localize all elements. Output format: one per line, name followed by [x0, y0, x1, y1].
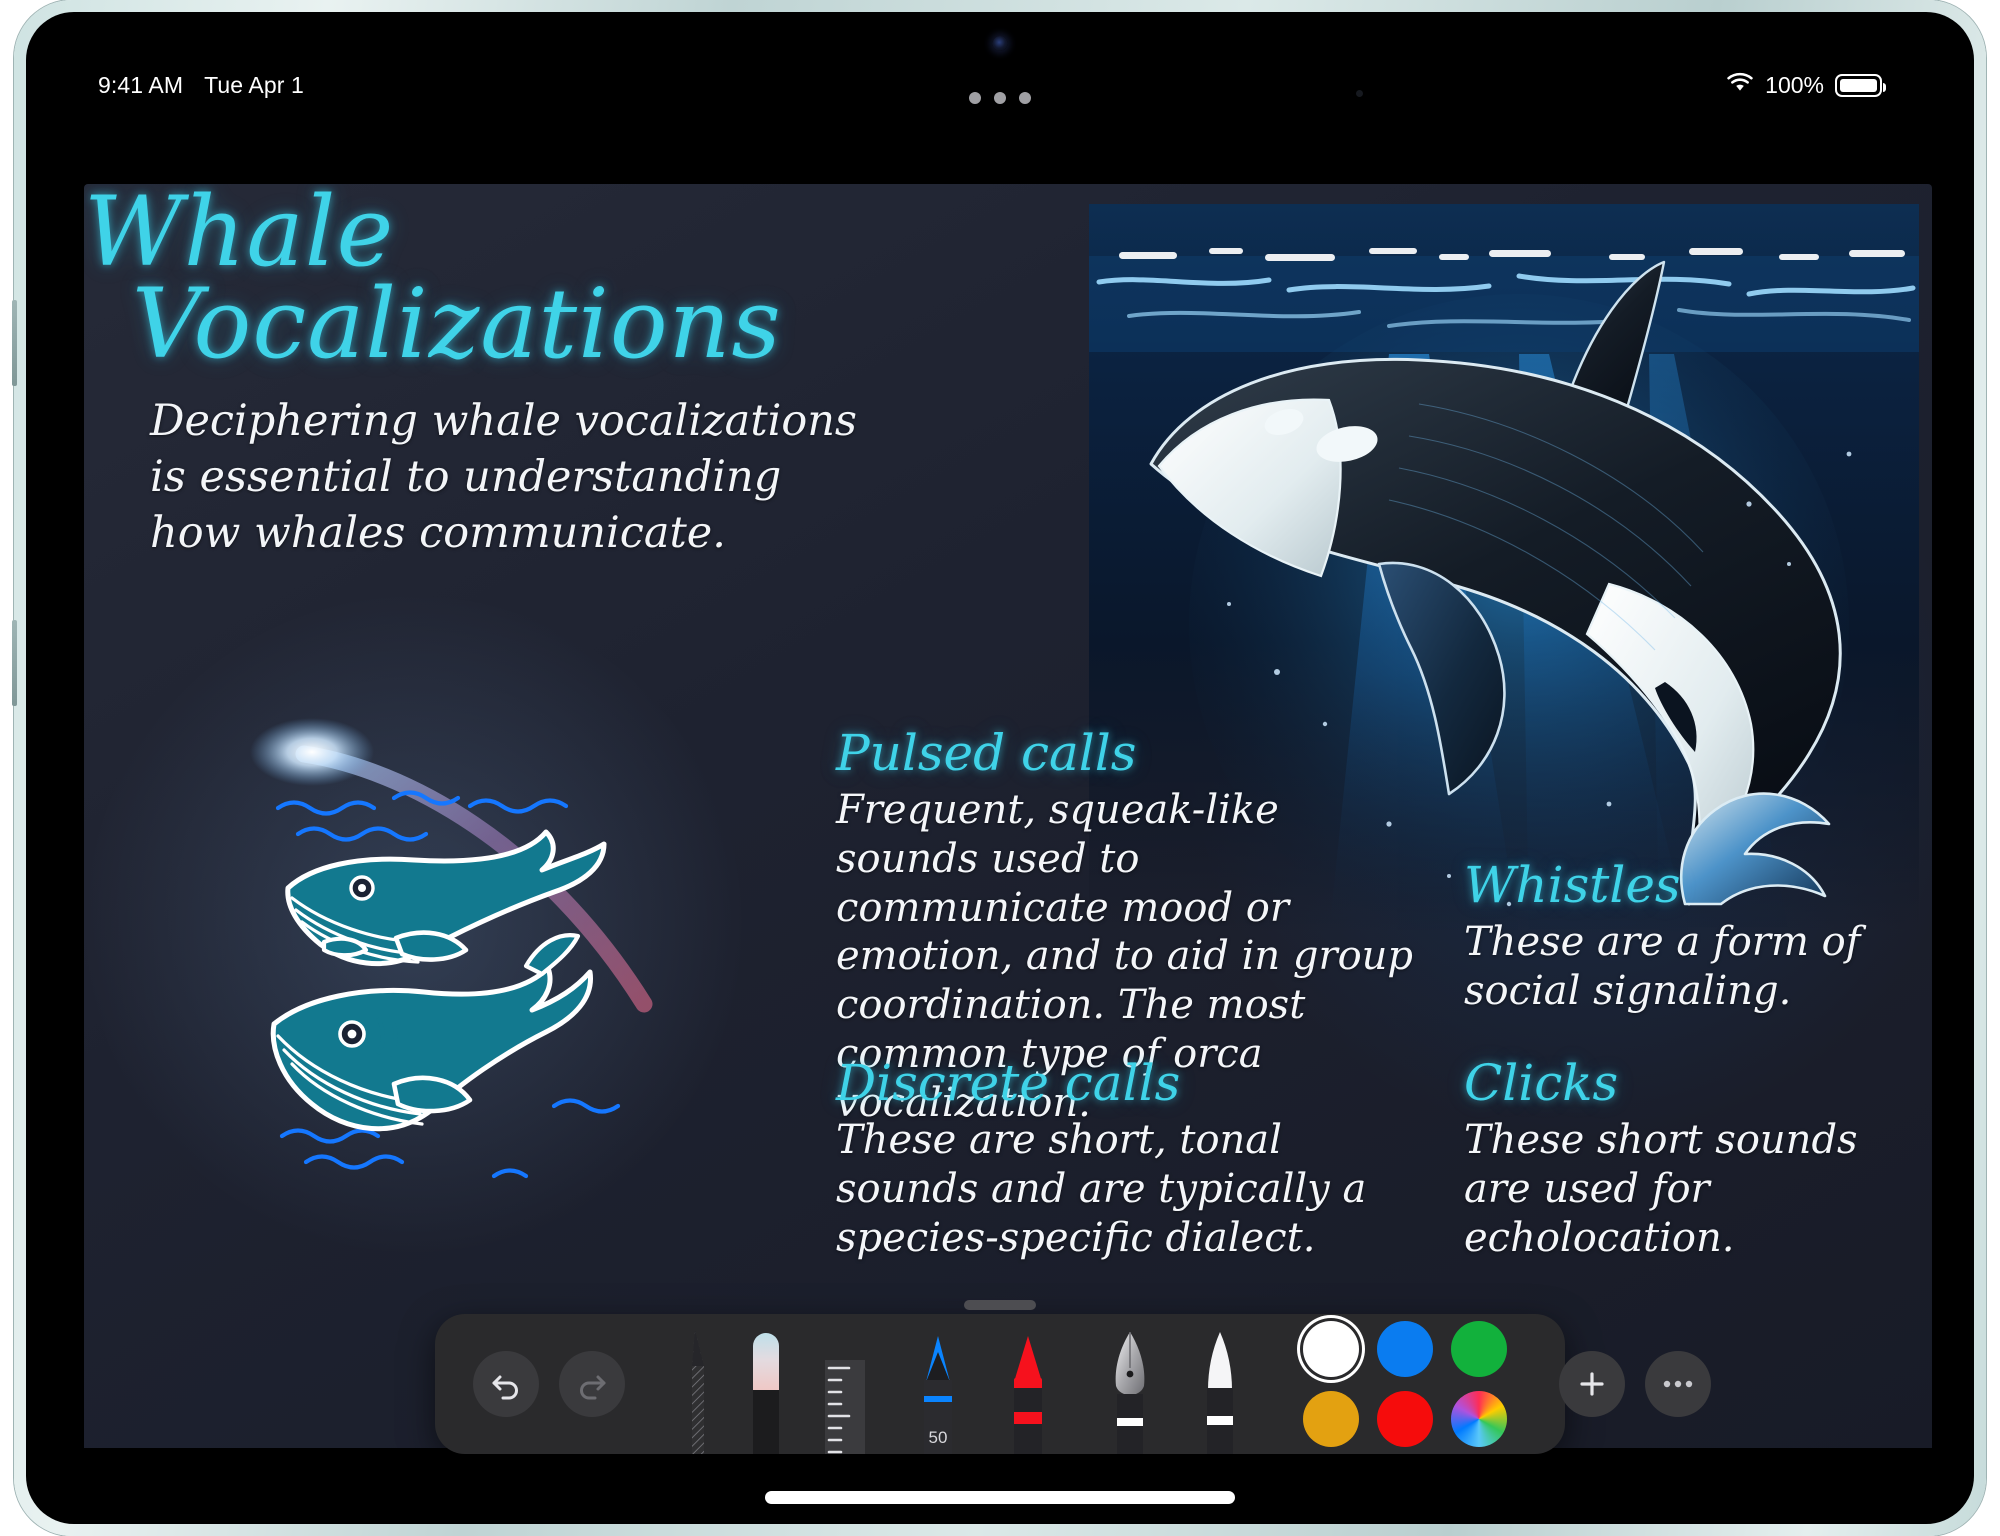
volume-up-button[interactable] — [12, 300, 17, 386]
ruler-tool[interactable] — [807, 1314, 871, 1454]
note-canvas[interactable]: Whale Vocalizations Deciphering whale vo… — [84, 184, 1932, 1448]
color-swatch-blue[interactable] — [1377, 1321, 1433, 1377]
battery-percent-label: 100% — [1765, 72, 1824, 99]
section-heading: Whistles — [1464, 856, 1884, 914]
wifi-icon — [1726, 72, 1754, 99]
status-time: 9:41 AM — [98, 72, 183, 99]
status-bar-right: 100% — [1726, 72, 1882, 99]
drawing-palette[interactable]: 50 — [435, 1314, 1565, 1454]
color-swatch-green[interactable] — [1451, 1321, 1507, 1377]
palette-more-button[interactable] — [1645, 1351, 1711, 1417]
section-clicks: Clicks These short sounds are used for e… — [1464, 1054, 1884, 1262]
ipad-device-frame: 9:41 AM Tue Apr 1 100% — [14, 0, 1986, 1536]
palette-drag-handle[interactable] — [964, 1300, 1036, 1310]
eraser-tool[interactable] — [739, 1314, 793, 1454]
undo-button[interactable] — [473, 1351, 539, 1417]
color-swatch-red[interactable] — [1377, 1391, 1433, 1447]
multitasking-controls-button[interactable] — [969, 92, 1031, 104]
multitask-dot — [969, 92, 981, 104]
highlighter-tool[interactable] — [1193, 1314, 1247, 1454]
multitask-dot — [1019, 92, 1031, 104]
color-swatch-grid — [1303, 1321, 1507, 1447]
whale-doodles — [254, 784, 724, 1184]
multitask-dot — [994, 92, 1006, 104]
pen-size-label: 50 — [929, 1428, 948, 1448]
status-bar-left: 9:41 AM Tue Apr 1 — [98, 72, 304, 99]
intro-paragraph: Deciphering whale vocalizations is essen… — [150, 394, 870, 562]
ipad-screen: 9:41 AM Tue Apr 1 100% — [26, 12, 1974, 1524]
color-swatch-white[interactable] — [1303, 1321, 1359, 1377]
section-heading: Clicks — [1464, 1054, 1884, 1112]
pen-tools-strip: 50 — [671, 1314, 1247, 1454]
section-body: These are short, tonal sounds and are ty… — [836, 1116, 1416, 1262]
fountain-pen-tool[interactable] — [1103, 1314, 1157, 1454]
color-swatch-orange[interactable] — [1303, 1391, 1359, 1447]
front-camera-icon — [993, 36, 1008, 51]
section-body: These are a form of social signaling. — [1464, 918, 1884, 1016]
section-heading: Discrete calls — [836, 1054, 1416, 1112]
section-body: These short sounds are used for echoloca… — [1464, 1116, 1884, 1262]
notes-app-toolbar: Aa — [26, 116, 1974, 188]
pen-tool[interactable]: 50 — [911, 1314, 965, 1454]
section-whistles: Whistles These are a form of social sign… — [1464, 856, 1884, 1016]
section-heading: Pulsed calls — [836, 724, 1416, 782]
color-wheel-icon[interactable] — [1451, 1391, 1507, 1447]
volume-down-button[interactable] — [12, 620, 17, 706]
redo-button[interactable] — [559, 1351, 625, 1417]
add-color-button[interactable] — [1559, 1351, 1625, 1417]
battery-full-icon — [1835, 74, 1882, 97]
status-date: Tue Apr 1 — [204, 72, 304, 99]
marker-tool[interactable] — [1001, 1314, 1055, 1454]
undo-redo-group — [473, 1351, 625, 1417]
home-indicator[interactable] — [765, 1491, 1235, 1504]
section-discrete-calls: Discrete calls These are short, tonal so… — [836, 1054, 1416, 1262]
palette-actions — [1559, 1351, 1711, 1417]
lasso-tool[interactable] — [671, 1314, 725, 1454]
